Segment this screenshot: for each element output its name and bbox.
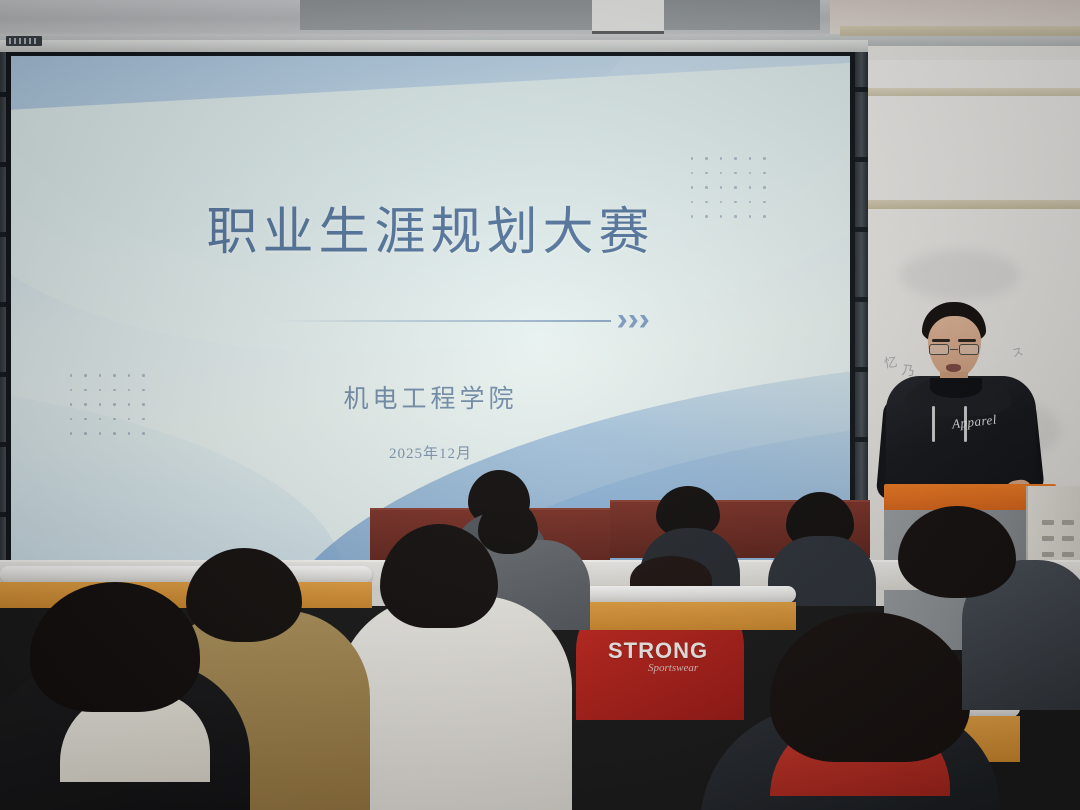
classroom-photo-scene: 忆 乃 ス — [0, 0, 1080, 810]
glasses-icon — [928, 344, 980, 355]
screen-track-right — [855, 52, 868, 572]
chevron-right-triple-icon — [618, 315, 649, 328]
projected-slide: 职业生涯规划大赛 机电工程学院 2025年12月 — [11, 56, 850, 561]
list-item — [478, 500, 538, 554]
white-tshirt-torso — [336, 596, 572, 810]
bench-rail — [0, 566, 372, 583]
slide-date: 2025年12月 — [11, 442, 850, 463]
ceiling-dark-band — [300, 0, 820, 30]
slide-divider — [271, 311, 649, 331]
whiteboard-rail-top — [840, 26, 1080, 36]
divider-line — [271, 320, 611, 322]
projection-screen-frame: 职业生涯规划大赛 机电工程学院 2025年12月 — [6, 52, 855, 567]
speaker-hood-inner — [930, 378, 982, 398]
screen-housing-label — [6, 36, 42, 46]
jacket-graphic-subtext: Sportswear — [648, 662, 698, 674]
slide-subtitle: 机电工程学院 — [11, 379, 850, 415]
bench-backrest — [556, 602, 796, 630]
projector-mount-bracket — [592, 0, 664, 34]
slide-title: 职业生涯规划大赛 — [11, 190, 850, 264]
hoodie-drawstring-left — [932, 406, 935, 442]
whiteboard-scribble: 忆 — [883, 351, 899, 372]
whiteboard-rail-lower — [848, 200, 1080, 209]
whiteboard-smudge — [900, 250, 1020, 300]
bench-rail — [556, 586, 796, 603]
screen-housing-label-text — [9, 38, 39, 44]
speaker-eyebrow-left — [932, 339, 950, 342]
speaker-eyebrow-right — [958, 339, 976, 342]
whiteboard-rail-middle — [850, 88, 1080, 96]
jacket-graphic-text: STRONG — [608, 638, 708, 664]
speaker-mouth — [946, 364, 961, 372]
